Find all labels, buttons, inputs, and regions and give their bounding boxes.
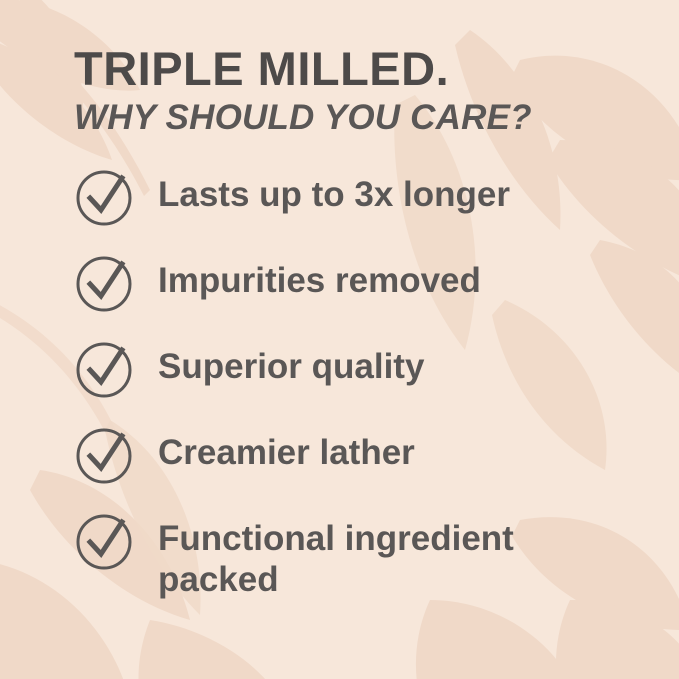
checkmark-circle-icon — [74, 168, 134, 228]
checkmark-circle-icon — [74, 254, 134, 314]
list-item: Functional ingredient packed — [74, 512, 643, 601]
page-title: TRIPLE MILLED. — [74, 44, 643, 93]
poster-content: TRIPLE MILLED. WHY SHOULD YOU CARE? Last… — [0, 0, 679, 600]
list-item: Lasts up to 3x longer — [74, 168, 643, 228]
list-item: Impurities removed — [74, 254, 643, 314]
checkmark-circle-icon — [74, 426, 134, 486]
page-subtitle: WHY SHOULD YOU CARE? — [74, 99, 643, 138]
benefit-list: Lasts up to 3x longer Impurities removed — [74, 168, 643, 601]
checkmark-circle-icon — [74, 512, 134, 572]
benefit-label: Lasts up to 3x longer — [158, 168, 510, 215]
benefit-label: Functional ingredient packed — [158, 512, 588, 601]
triple-milled-infographic: TRIPLE MILLED. WHY SHOULD YOU CARE? Last… — [0, 0, 679, 679]
benefit-label: Creamier lather — [158, 426, 415, 473]
list-item: Superior quality — [74, 340, 643, 400]
list-item: Creamier lather — [74, 426, 643, 486]
benefit-label: Impurities removed — [158, 254, 481, 301]
benefit-label: Superior quality — [158, 340, 424, 387]
checkmark-circle-icon — [74, 340, 134, 400]
